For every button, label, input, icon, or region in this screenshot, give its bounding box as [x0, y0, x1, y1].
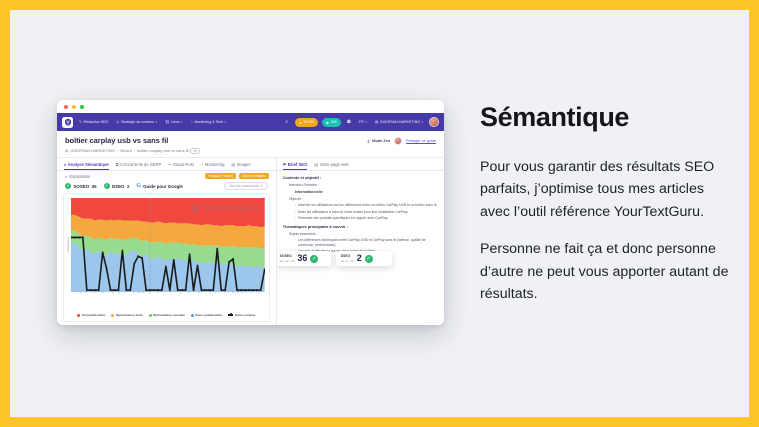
tab-analyse-semantique[interactable]: ⌕ Analyse Sémantique [64, 162, 109, 171]
chart-line-marker [161, 289, 163, 291]
floating-score-cards: SOSEO rec. 33 - 37 36 ✓ DSEO rec. 0 - 19 [277, 251, 392, 266]
chart-line-marker [106, 268, 108, 270]
chart-line-marker [74, 237, 76, 239]
score-label: SOSEO [74, 184, 90, 189]
window-zoom-icon[interactable] [80, 105, 84, 109]
chart-line-marker [118, 289, 120, 291]
legend-label: Votre contenu [235, 313, 256, 317]
chart-line-marker [153, 289, 155, 291]
credit-pill-coins[interactable]: ◕ 25 000 [295, 118, 318, 127]
chart-line-marker [260, 289, 262, 291]
chart-plot-wrap: Optimisation Yourtext.Guru [64, 194, 269, 292]
brief-objective-item: ▫ Aider les utilisateurs à faire un choi… [295, 210, 438, 215]
chart-line-marker [205, 289, 207, 291]
chart-line-marker [126, 289, 128, 291]
nav-item-strategie-contenu[interactable]: ◎ Stratégie de contenu ▾ [114, 120, 159, 124]
yourtext-guru-logo-icon[interactable] [62, 117, 73, 128]
brief-intention-label: Intention Primaire : [289, 183, 438, 187]
chart-plot-area: Yourtext.Guru [71, 198, 265, 292]
floating-score-recommendation: rec. 0 - 19 [341, 259, 354, 263]
chart-line-marker [181, 289, 183, 291]
chart-line-marker [145, 289, 147, 291]
legend-label: Suroptimisation [82, 313, 106, 317]
search-icon[interactable]: ⌕ [282, 119, 291, 125]
breadcrumb: ▤ GUERSAN MARKETING › Divers › boîtier c… [65, 148, 436, 154]
breadcrumb-more-button[interactable]: ••• [190, 148, 200, 154]
floating-score-dseo: DSEO rec. 0 - 19 2 ✓ [336, 251, 392, 266]
chart-line-marker [216, 248, 218, 250]
avatar[interactable] [429, 117, 439, 127]
chart-line-marker [165, 266, 167, 268]
nav-item-redaction-seo[interactable]: ✎ Rédaction SEO [77, 120, 110, 124]
legend-item-votre-contenu: Votre contenu [228, 313, 255, 317]
chart-line-marker [209, 289, 211, 291]
brief-tabbar: ⚑ Brief SEO ▤ Votre page web [277, 158, 444, 172]
chart-line-marker [78, 237, 80, 239]
window-titlebar [57, 100, 444, 113]
chart-line-marker [240, 289, 242, 291]
bullet-icon: ▫ [295, 210, 296, 215]
legend-item-suroptimisation: Suroptimisation [77, 313, 105, 317]
brief-theme-item: ▫ Les différences techniques entre CarPl… [295, 238, 438, 247]
tab-label: Votre page web [320, 162, 349, 167]
building-icon: ▤ [375, 120, 378, 124]
token-icon: ◈ [326, 120, 329, 125]
window-close-icon[interactable] [64, 105, 68, 109]
floating-score-value: 2 [357, 254, 362, 263]
chart-line-marker [130, 289, 132, 291]
chevron-down-icon: ▾ [421, 120, 423, 124]
building-icon: ▤ [65, 149, 68, 153]
chart-line-marker [157, 289, 159, 291]
tab-social-post[interactable]: ⤳ Social Post [168, 162, 194, 171]
breadcrumb-item[interactable]: GUERSAN MARKETING [70, 148, 115, 153]
language-label: FR [359, 120, 364, 124]
zen-mode-label: Mode Zen [372, 139, 390, 143]
chevron-down-icon: ▾ [365, 120, 367, 124]
nav-item-label: Monitoring & Tech [194, 120, 223, 124]
chart-line-marker [185, 289, 187, 291]
chart-legend: Suroptimisation Optimisation forte Optim… [64, 312, 269, 321]
chart-line-marker [141, 257, 143, 259]
tab-monitoring[interactable]: ⌁ Monitoring [201, 162, 224, 171]
chart-line-marker [173, 259, 175, 261]
brief-themes-heading: Thématiques principales à couvrir : [283, 224, 438, 229]
legend-item-optimisation-normale: Optimisation normale [149, 313, 185, 317]
tab-votre-page-web[interactable]: ▤ Votre page web [314, 162, 348, 171]
score-dseo: ✓ DSEO 2 [104, 183, 130, 189]
trial-days-badge: 30 jours restants [239, 173, 269, 179]
google-icon: G [136, 183, 141, 189]
competitors-select[interactable]: Voir les concurrents ▾ [224, 182, 267, 190]
compare-icon: ⧉ [116, 162, 119, 167]
check-icon: ✓ [310, 255, 318, 263]
right-pane: ⚑ Brief SEO ▤ Votre page web Contexte et… [276, 158, 444, 326]
link-icon: ⛓ [165, 120, 170, 124]
flag-icon: ⚑ [283, 162, 287, 167]
legend-label: Optimisation forte [116, 313, 143, 317]
chart-line-marker [201, 289, 203, 291]
score-soseo: ✓ SOSEO 36 [65, 183, 97, 189]
nav-item-liens[interactable]: ⛓ Liens ▾ [163, 120, 185, 124]
chart-line-marker [228, 261, 230, 263]
bullet-icon: ▫ [295, 203, 296, 208]
tab-label: Brief SEO [288, 162, 308, 167]
brief-content: Contexte et objectif : Intention Primair… [277, 171, 444, 325]
chart-line-marker [94, 289, 96, 291]
search-icon: ⌕ [65, 174, 67, 179]
check-icon: ✓ [65, 183, 71, 189]
analysis-tabbar: ⌕ Analyse Sémantique ⧉ Concurrents de SE… [57, 158, 276, 172]
breadcrumb-item[interactable]: Divers [120, 148, 131, 153]
brief-objective-label: Objectif : [289, 197, 438, 201]
check-icon: ✓ [104, 183, 110, 189]
tab-label: Analyse Sémantique [68, 162, 109, 167]
chart-line-marker [71, 237, 72, 239]
score-row: Français (France) 30 jours restants ✓ SO… [57, 182, 276, 192]
share-icon: ⤳ [168, 162, 171, 167]
coin-icon: ◕ [299, 120, 301, 125]
slide-canvas: ✎ Rédaction SEO ◎ Stratégie de contenu ▾… [10, 10, 749, 417]
chart-line-marker [133, 263, 135, 265]
language-selector[interactable]: FR ▾ [357, 120, 369, 124]
chart-line-marker [86, 289, 88, 291]
score-value: 36 [92, 184, 97, 189]
chart-line-marker [102, 252, 104, 254]
chart-line-marker [213, 289, 215, 291]
nav-item-label: Liens [171, 120, 180, 124]
chart-line-marker [224, 289, 226, 291]
floating-score-info: DSEO rec. 0 - 19 [341, 254, 354, 263]
credit-amount: 605 [331, 120, 337, 124]
chart-line-marker [232, 258, 234, 260]
chart-line-marker [114, 289, 116, 291]
chart-line-marker [264, 269, 265, 271]
chart-line-marker [149, 289, 151, 291]
chart-line-marker [90, 289, 92, 291]
score-value: 2 [127, 184, 129, 189]
google-guide-label: Guide pour Google [143, 184, 183, 189]
legend-swatch [191, 314, 194, 317]
account-selector[interactable]: ▤ GUERSAN MARKETING ▾ [373, 120, 425, 124]
brief-objective-item: ▫ Informer les utilisateurs sur les diff… [295, 203, 438, 208]
document-header: boîtier carplay usb vs sans fil ▤ GUERSA… [57, 131, 444, 157]
semantic-chart-card: ▤ Optimisation Yourtext.Guru [63, 193, 270, 322]
exploration-label: Exploration [69, 174, 90, 179]
brief-themes-sub: Sujets essentiels : [289, 232, 438, 236]
chart-line-marker [177, 289, 179, 291]
pen-icon: ✎ [79, 120, 82, 124]
breadcrumb-item[interactable]: boîtier carplay usb vs sans fil [137, 148, 188, 153]
floating-score-value: 36 [297, 254, 307, 263]
document-icon: ▤ [314, 162, 318, 167]
chart-line-marker [252, 289, 254, 291]
floating-score-soseo: SOSEO rec. 33 - 37 36 ✓ [277, 251, 331, 266]
legend-swatch [228, 314, 233, 315]
chevron-down-icon: ▾ [225, 120, 227, 124]
tab-images[interactable]: ▤ Images [231, 162, 250, 171]
tab-label: Concurrents de SERP [120, 162, 161, 167]
floating-score-label: SOSEO [280, 254, 295, 258]
chart-line-marker [169, 289, 171, 291]
brief-theme-text: Les différences techniques entre CarPlay… [298, 238, 438, 247]
floating-score-info: SOSEO rec. 33 - 37 [280, 254, 295, 263]
google-guide-button[interactable]: G Guide pour Google [136, 183, 182, 189]
check-icon: ✓ [365, 255, 373, 263]
app-navbar: ✎ Rédaction SEO ◎ Stratégie de contenu ▾… [57, 113, 444, 131]
headline: Sémantique [480, 102, 730, 133]
language-badge: Français (France) [205, 173, 236, 179]
image-icon: ▤ [231, 162, 235, 167]
chart-line-marker [82, 237, 84, 239]
score-label: DSEO [112, 184, 124, 189]
nav-item-label: Rédaction SEO [84, 120, 109, 124]
chevron-down-icon: ▾ [156, 120, 158, 124]
chart-line-marker [244, 289, 246, 291]
legend-swatch [77, 314, 80, 317]
tab-label: Monitoring [205, 162, 225, 167]
legend-swatch [149, 314, 152, 317]
account-label: GUERSAN MARKETING [380, 120, 420, 124]
chart-svg [71, 198, 265, 292]
legend-item-sous-optimisation: Sous-optimisation [191, 313, 222, 317]
left-pane: ⌕ Analyse Sémantique ⧉ Concurrents de SE… [57, 158, 276, 326]
zen-mode-toggle[interactable]: ☾ Mode Zen [367, 139, 390, 144]
brief-objective-item: ▫ Présenter des produits spécifiques en … [295, 216, 438, 221]
tab-concurrents-serp[interactable]: ⧉ Concurrents de SERP [116, 162, 162, 171]
tab-label: Images [237, 162, 251, 167]
brief-objective-text: Aider les utilisateurs à faire un choix … [298, 210, 408, 215]
browser-window: ✎ Rédaction SEO ◎ Stratégie de contenu ▾… [57, 100, 444, 325]
search-semantic-icon: ⌕ [64, 162, 66, 167]
brief-heading: Contexte et objectif : [283, 175, 438, 180]
text-column: Sémantique Pour vous garantir des résult… [480, 102, 730, 321]
tab-label: Social Post [173, 162, 194, 167]
chart-line-marker [197, 265, 199, 267]
chart-line-marker [137, 255, 139, 257]
window-minimize-icon[interactable] [72, 105, 76, 109]
brief-intention-value: Informationnelle [295, 190, 438, 194]
document-header-actions: ☾ Mode Zen Partager ce guide [367, 137, 436, 145]
moon-icon: ☾ [367, 139, 370, 144]
chart-line-marker [110, 289, 112, 291]
credit-pill-tokens[interactable]: ◈ 605 [322, 118, 341, 127]
share-guide-link[interactable]: Partager ce guide [406, 139, 436, 143]
bell-icon[interactable]: ☗ [345, 119, 353, 125]
floating-score-label: DSEO [341, 254, 354, 258]
credit-amount: 25 000 [304, 120, 314, 124]
legend-label: Sous-optimisation [195, 313, 222, 317]
chart-line-marker [220, 289, 222, 291]
nav-item-monitoring-tech[interactable]: ⌁ Monitoring & Tech ▾ [189, 120, 228, 124]
competitors-select-value: Voir les concurrents [229, 184, 259, 188]
chart-line-marker [236, 289, 238, 291]
nav-item-label: Stratégie de contenu [121, 120, 154, 124]
bullet-icon: ▫ [295, 238, 296, 247]
chart-line-marker [189, 253, 191, 255]
chart-x-axis-ticks: carplayboîtiersans filusbvoitureadaptate… [64, 292, 269, 312]
legend-label: Optimisation normale [153, 313, 185, 317]
trend-icon: ⌁ [201, 162, 203, 167]
legend-swatch [111, 314, 114, 317]
chevron-down-icon: ▾ [181, 120, 183, 124]
chevron-down-icon: ▾ [261, 184, 263, 188]
brief-objective-text: Présenter des produits spécifiques en ra… [298, 216, 388, 221]
chart-icon: ⌁ [191, 120, 193, 124]
badge-row: Français (France) 30 jours restants [205, 173, 269, 179]
breadcrumb-separator: › [117, 148, 118, 153]
target-icon: ◎ [116, 120, 119, 124]
brief-objective-text: Informer les utilisateurs sur les différ… [298, 203, 437, 208]
tab-brief-seo[interactable]: ⚑ Brief SEO [283, 162, 308, 171]
avatar[interactable] [394, 137, 402, 145]
legend-item-optimisation-forte: Optimisation forte [111, 313, 142, 317]
chart-line-marker [248, 289, 250, 291]
bullet-icon: ▫ [295, 216, 296, 221]
chart-line-marker [193, 289, 195, 291]
floating-score-recommendation: rec. 33 - 37 [280, 259, 295, 263]
chart-line-marker [98, 289, 100, 291]
document-body: ⌕ Analyse Sémantique ⧉ Concurrents de SE… [57, 157, 444, 326]
chart-line-marker [256, 289, 258, 291]
body-paragraph: Personne ne fait ça et donc personne d’a… [480, 238, 730, 305]
body-paragraph: Pour vous garantir des résultats SEO par… [480, 156, 730, 223]
breadcrumb-separator: › [134, 148, 135, 153]
chart-line-marker [122, 250, 124, 252]
